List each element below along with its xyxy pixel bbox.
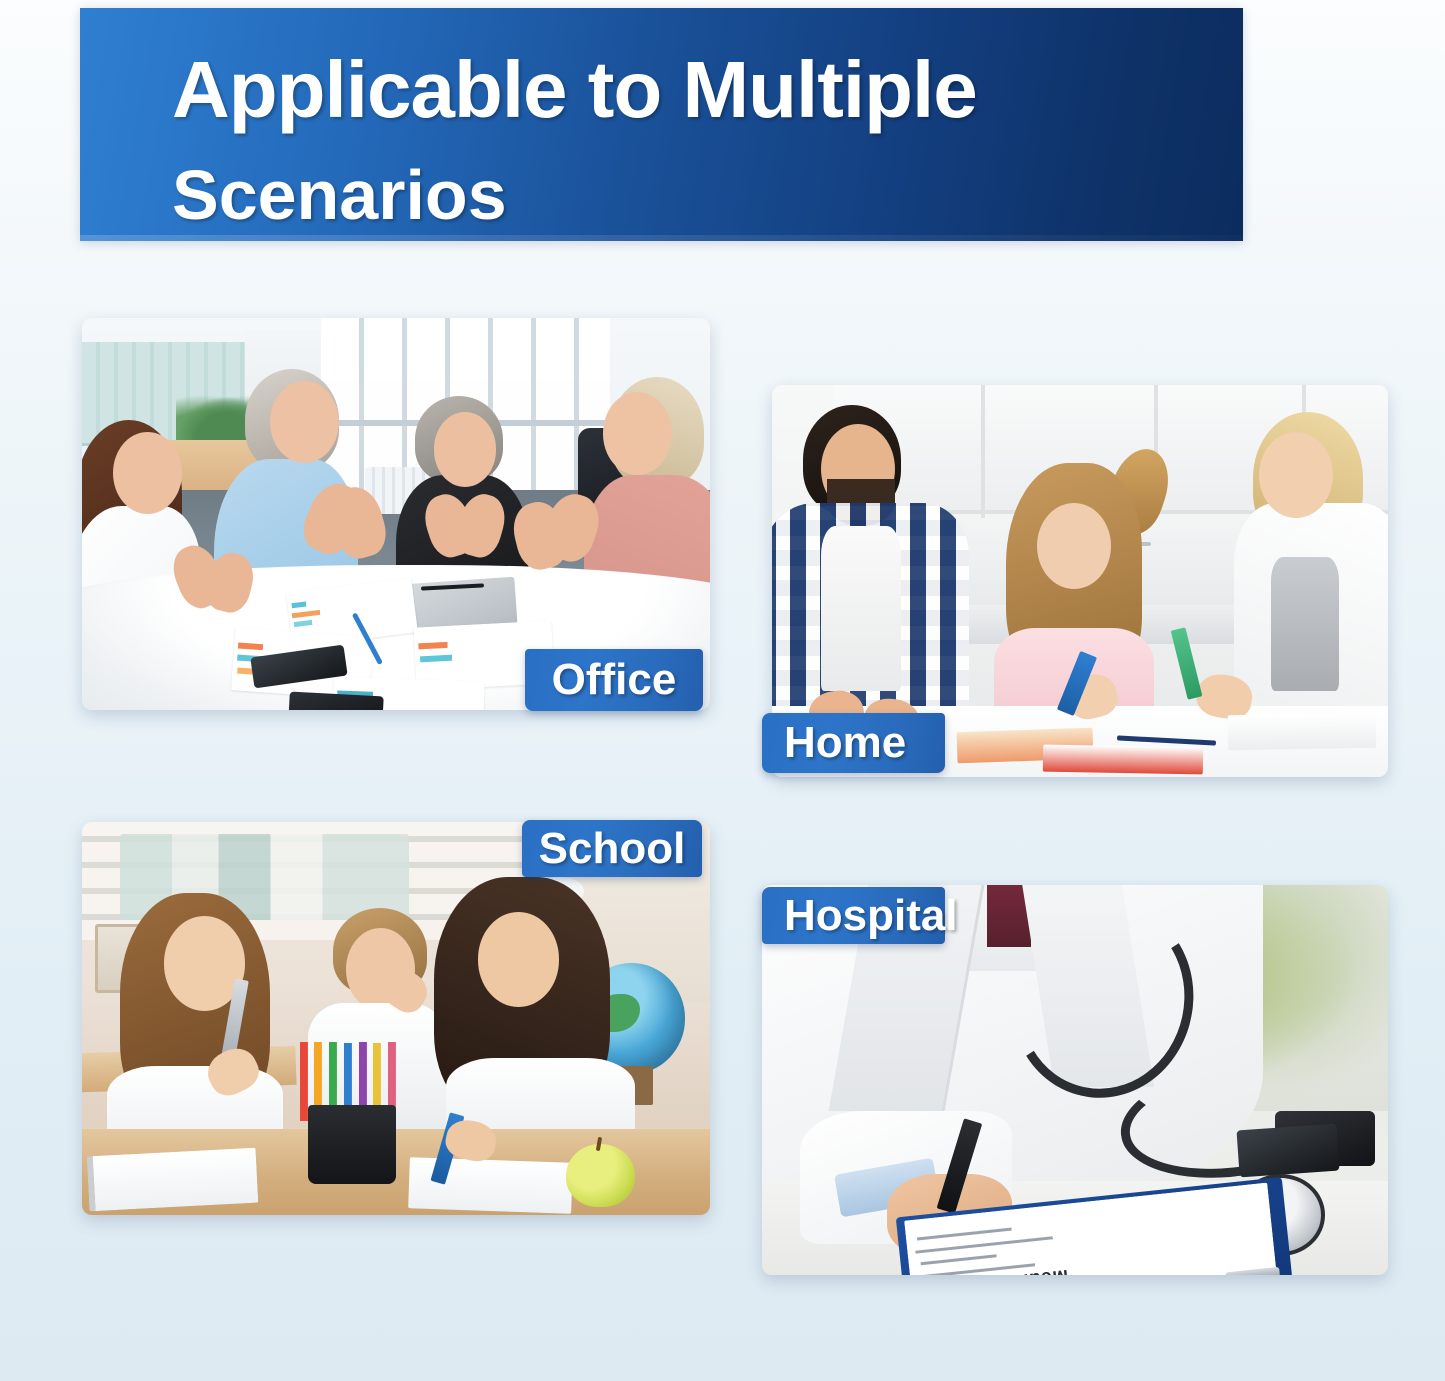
scenario-badge-home: Home (762, 713, 945, 773)
header-banner: Applicable to Multiple Scenarios (80, 8, 1243, 241)
office-person-4-head (603, 392, 672, 474)
school-pencil-cup (308, 1105, 396, 1184)
school-photo (82, 822, 710, 1215)
office-person-2-head (270, 381, 339, 463)
hospital-smartphone (1236, 1123, 1339, 1177)
home-girl-head (1037, 503, 1111, 589)
home-cabinet-seam-1 (981, 385, 985, 518)
school-notebook-left (87, 1148, 259, 1212)
home-father-tshirt (821, 526, 901, 691)
school-apple (566, 1144, 635, 1207)
home-notebook-2 (1043, 744, 1204, 774)
scenario-badge-hospital: Hospital (762, 887, 945, 944)
office-person-1-head (113, 432, 182, 514)
school-notebook-right (408, 1157, 573, 1214)
page-title-line-2: Scenarios (172, 160, 507, 230)
office-person-3-head (434, 412, 497, 486)
scenario-badge-school: School (522, 820, 702, 877)
school-girl-2-head (478, 912, 560, 1006)
home-mother-top (1271, 557, 1339, 690)
home-mother-head (1259, 432, 1333, 518)
scenario-card-school (82, 822, 710, 1215)
hospital-form-title: Medical Form (939, 1264, 1069, 1275)
home-notebook-3 (1228, 713, 1376, 751)
page-title-line-1: Applicable to Multiple (172, 50, 977, 130)
scenario-badge-office: Office (525, 649, 703, 711)
